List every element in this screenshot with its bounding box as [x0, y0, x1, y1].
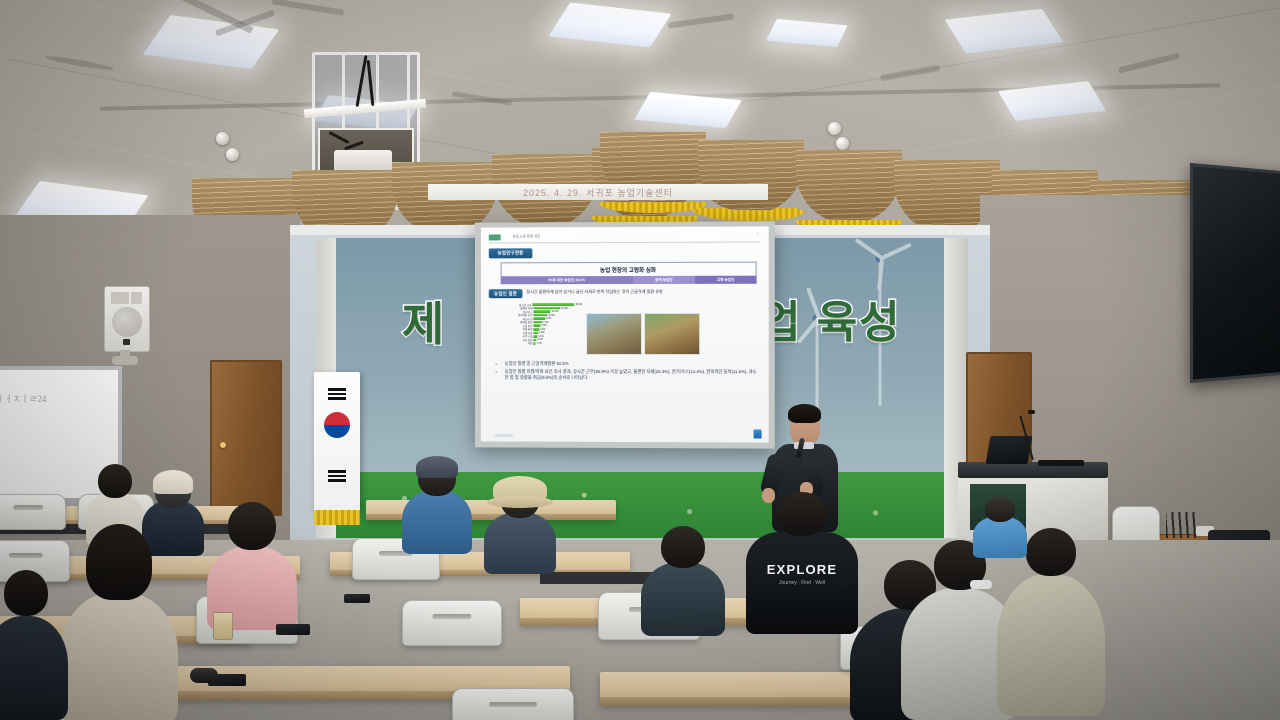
event-banner: 2025. 4. 29. 서귀포 농업기술센터	[428, 184, 768, 200]
podium-microphone-head	[1028, 410, 1035, 414]
baseball-cap	[416, 456, 458, 478]
slide-header-label: 농업 노동 환경 개선	[513, 233, 541, 238]
audience-person	[972, 496, 1028, 556]
chart-bar	[533, 303, 575, 306]
hoodie-print-subtext: Journey · Find · Well	[779, 580, 825, 586]
flag-trigram-top	[328, 388, 346, 400]
lecture-hall-photo: 2025. 4. 29. 서귀포 농업기술센터 제 업 육성	[0, 0, 1280, 720]
strip-segment: 중개 농업인	[633, 276, 695, 284]
slide-bullet-list: 농업인 질병 중 근골격계질환 92.5% 농업인 질병 유발/악화 요인 조사…	[497, 361, 759, 383]
chart-bar-value: 36.9%	[574, 303, 582, 306]
slide-demographic-strip: 50세 미만 농업인 45.6% 중개 농업인 고령 농업인	[501, 276, 757, 285]
cabinet-tools	[1166, 512, 1196, 538]
slide-header: 농업 노동 환경 개선 7	[489, 232, 761, 243]
slide-bullet-text: 농업인 질병 중 근골격계질환 92.5%	[505, 361, 569, 366]
slide-footer: 국립농업과학원	[495, 434, 513, 438]
slide-header-chip	[489, 234, 501, 240]
case-object	[190, 668, 218, 683]
hoodie-print-text: EXPLORE	[767, 562, 838, 577]
chair	[452, 688, 574, 720]
wall-display	[1190, 163, 1280, 383]
slide-bar-chart: 장시간 근무36.9%불편한 자세22.4%연기/가스14.4%반복적인 동작1…	[509, 303, 583, 349]
projection-screen: 농업 노동 환경 개선 7 농업연구현황 농업 현장의 고령화 심화 50세 미…	[475, 221, 775, 448]
korean-flag	[314, 372, 360, 512]
smartphone	[276, 624, 310, 635]
chart-bar-value: 1.7%	[536, 342, 542, 345]
audience-person	[206, 498, 298, 628]
slide-photo-harvest	[644, 313, 700, 355]
presentation-slide: 농업 노동 환경 개선 7 농업연구현황 농업 현장의 고령화 심화 50세 미…	[481, 226, 769, 442]
chart-bar	[534, 307, 561, 310]
mural-text-right: 업 육성	[760, 286, 902, 350]
audience-person	[400, 456, 474, 552]
whiteboard-note: ㅣㅓㅈㅣㄹ24	[0, 392, 46, 405]
chair	[0, 494, 66, 530]
podium-controls	[1038, 460, 1084, 466]
audience-person-explore-hoodie: EXPLORE Journey · Find · Well	[744, 492, 860, 634]
chart-bar-row: 미상1.7%	[509, 342, 583, 345]
chart-bar-value: 22.4%	[560, 307, 568, 310]
drinking-cup	[213, 612, 233, 640]
audience-person	[0, 570, 68, 720]
chart-bar-label: 미상	[509, 341, 534, 345]
slide-lead-tag: 농업인 질환	[489, 289, 523, 298]
audience-person	[60, 524, 178, 720]
chart-bar	[534, 314, 548, 317]
pa-speaker-mount	[112, 356, 138, 365]
audience-person	[482, 476, 558, 572]
slide-bullet-item: 농업인 질병 유발/악화 요인 조사 결과, 장시간 근무(36.9%) 가장 …	[505, 368, 759, 381]
chart-bar	[534, 317, 545, 319]
flag-trigram-bottom	[328, 470, 346, 482]
chart-bar	[534, 325, 541, 327]
audience-person	[640, 522, 726, 632]
bucket-hat-brim	[487, 496, 553, 508]
strip-segment: 고령 농업인	[695, 276, 757, 284]
slide-page-number: 7	[757, 232, 759, 236]
chart-bar	[534, 310, 551, 313]
slide-lead-text: 장시간 불편하게 앉아 있거나 굴신 자세로 반복 작업하는 것이 근골격계 질…	[526, 290, 760, 295]
slide-bullet-item: 농업인 질병 중 근골격계질환 92.5%	[505, 361, 759, 367]
pa-speaker	[104, 286, 150, 352]
hair-clip	[970, 580, 992, 589]
ceiling-spotlight	[216, 132, 229, 145]
knit-beanie	[153, 470, 193, 494]
slide-photo-field-work	[586, 313, 642, 355]
event-banner-text: 2025. 4. 29. 서귀포 농업기술센터	[523, 186, 673, 199]
flag-fringe	[314, 510, 360, 525]
smartphone	[344, 594, 370, 603]
slide-bullet-text: 농업인 질병 유발/악화 요인 조사 결과, 장시간 근무(36.9%) 가장 …	[505, 368, 757, 379]
chart-bar	[534, 321, 543, 323]
mural-text-left: 제	[402, 288, 446, 354]
slide-section-tag: 농업연구현황	[489, 248, 533, 258]
door-left	[210, 360, 282, 516]
chair	[402, 600, 502, 646]
taegeuk-symbol	[324, 412, 350, 438]
strip-segment: 50세 미만 농업인 45.6%	[501, 276, 633, 284]
